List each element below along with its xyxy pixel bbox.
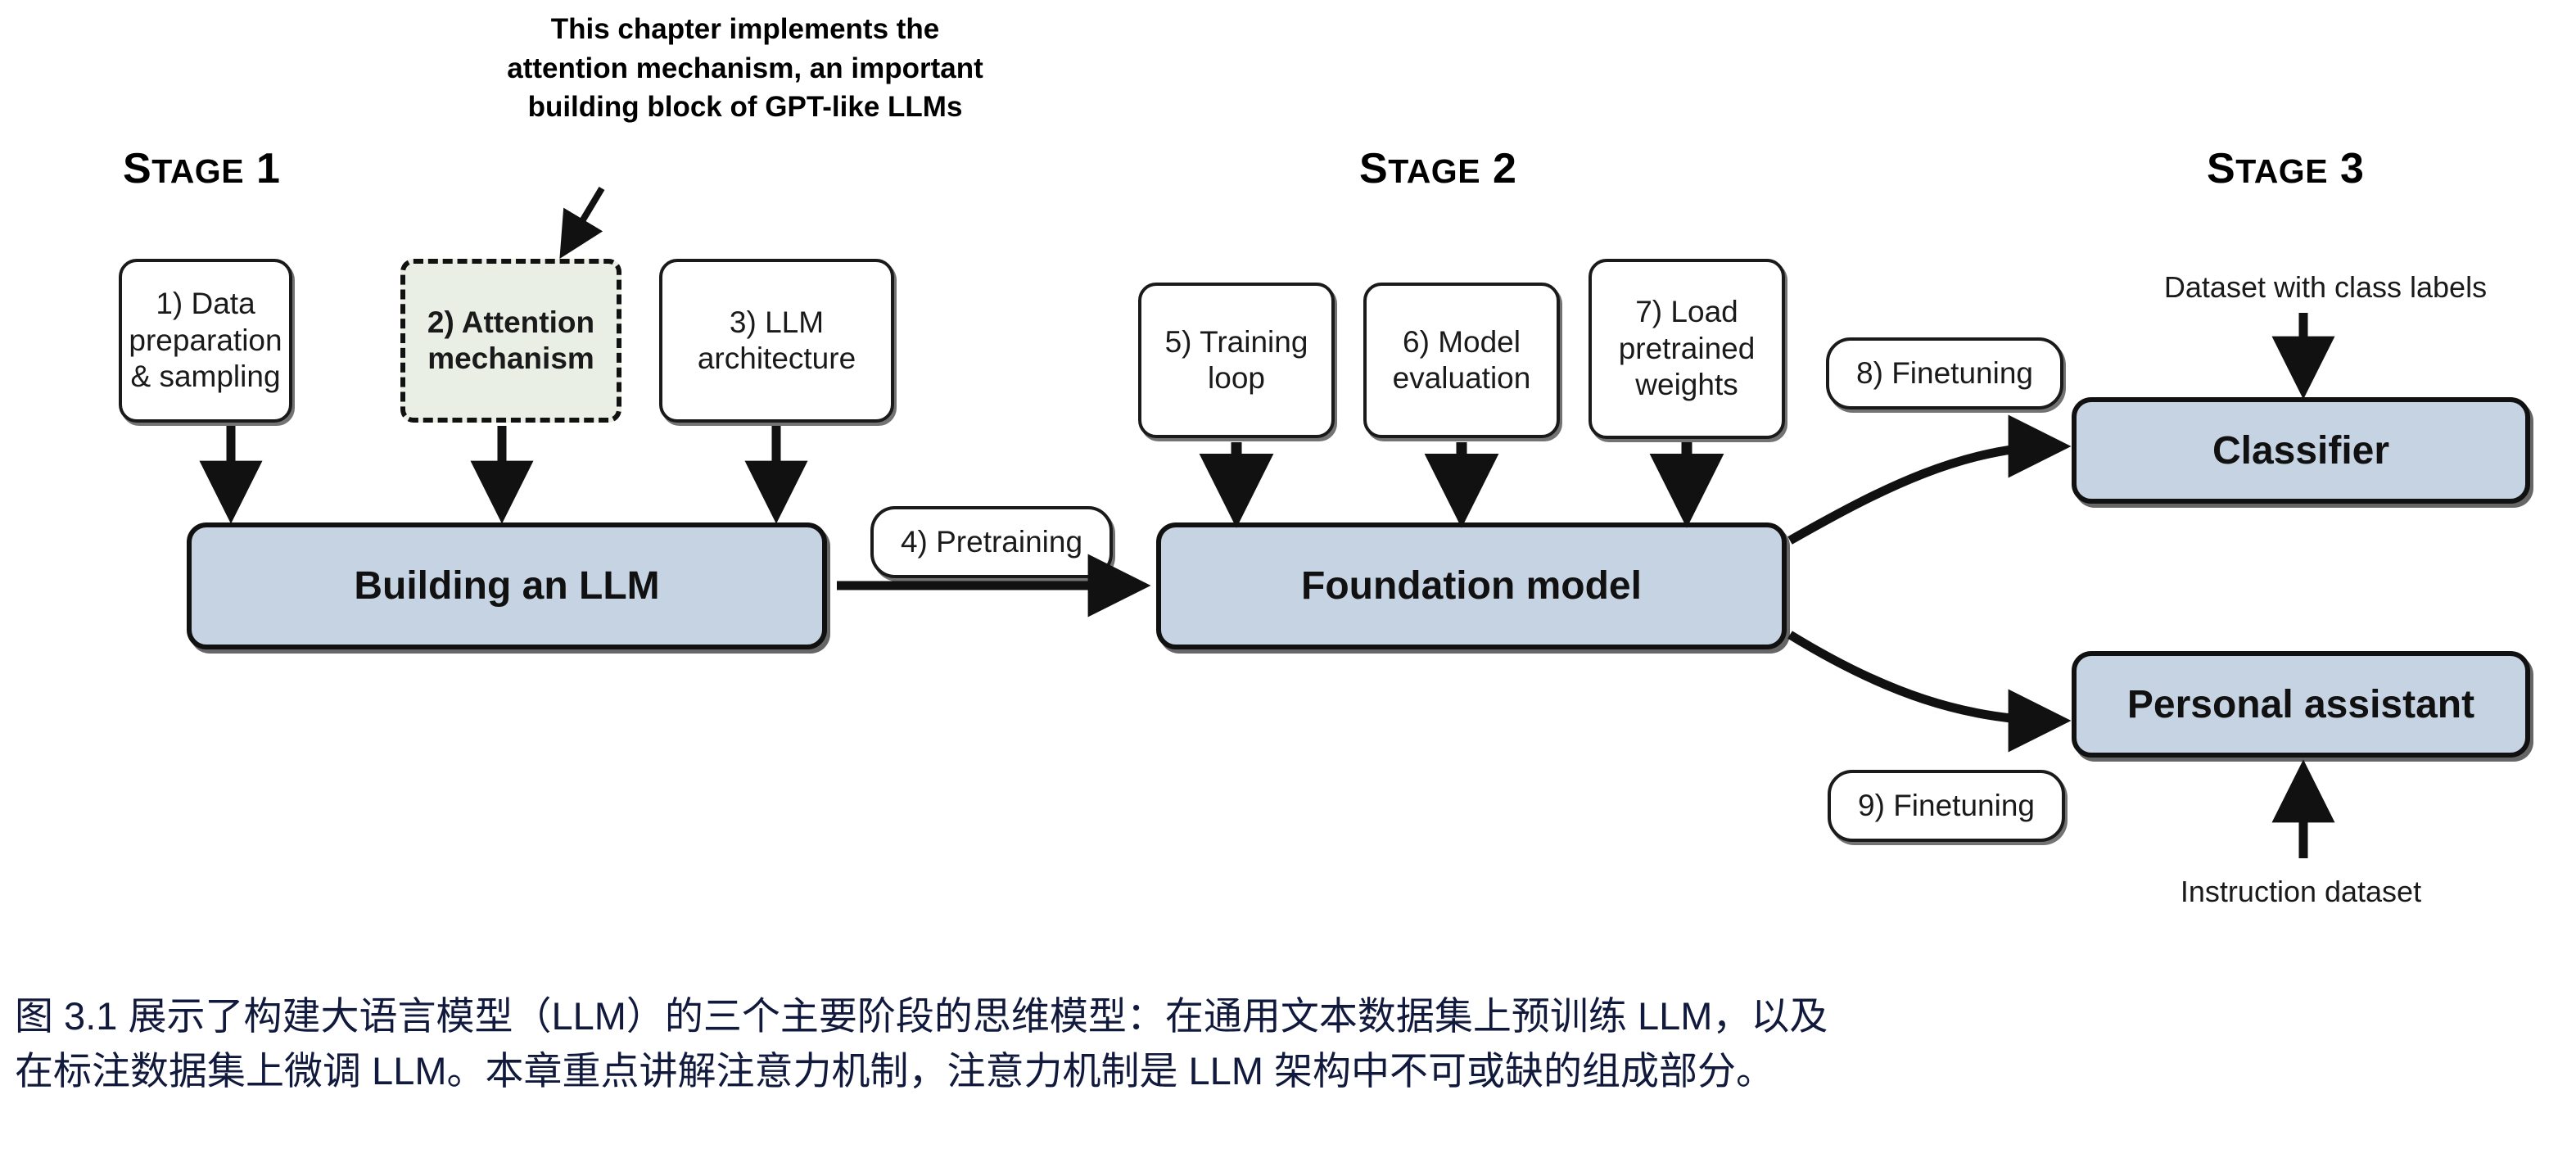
stage-2-number: 2 xyxy=(1493,145,1516,192)
step-2-line-1: 2) Attention xyxy=(427,305,594,341)
step-1-line-2: preparation xyxy=(129,323,282,359)
finetuning-8-label: 8) Finetuning xyxy=(1856,356,2033,391)
stage-1-prefix: S xyxy=(123,145,151,192)
stage-1-header: STAGE 1 xyxy=(123,147,280,190)
step-5-line-2: loop xyxy=(1165,360,1308,396)
foundation-model-box[interactable]: Foundation model xyxy=(1156,522,1787,649)
step-3-line-2: architecture xyxy=(698,341,856,377)
arrow-foundation-to-assistant xyxy=(1790,635,2057,721)
arrow-foundation-to-classifier xyxy=(1790,446,2057,541)
building-an-llm-label: Building an LLM xyxy=(354,563,659,608)
step-box-llm-architecture[interactable]: 3) LLM architecture xyxy=(659,259,894,423)
finetuning-9-label-box[interactable]: 9) Finetuning xyxy=(1828,770,2065,842)
pretraining-label: 4) Pretraining xyxy=(901,525,1082,559)
foundation-model-label: Foundation model xyxy=(1301,563,1642,608)
chapter-annotation: This chapter implements the attention me… xyxy=(442,10,1048,127)
step-1-line-1: 1) Data xyxy=(129,286,282,322)
step-2-line-2: mechanism xyxy=(427,341,594,377)
pretraining-label-box[interactable]: 4) Pretraining xyxy=(870,506,1113,578)
step-7-line-1: 7) Load xyxy=(1619,294,1756,330)
stage-2-prefix: S xyxy=(1359,145,1388,192)
figure-caption: 图 3.1 展示了构建大语言模型（LLM）的三个主要阶段的思维模型：在通用文本数… xyxy=(15,989,2569,1098)
annotation-line-3: building block of GPT-like LLMs xyxy=(442,88,1048,127)
annotation-pointer-arrow xyxy=(565,188,602,250)
finetuning-8-label-box[interactable]: 8) Finetuning xyxy=(1826,337,2063,409)
step-6-line-1: 6) Model xyxy=(1393,324,1531,360)
annotation-line-2: attention mechanism, an important xyxy=(442,49,1048,88)
instruction-dataset-label: Instruction dataset xyxy=(2096,875,2506,909)
caption-line-1: 图 3.1 展示了构建大语言模型（LLM）的三个主要阶段的思维模型：在通用文本数… xyxy=(15,989,2569,1044)
stage-2-rest: TAGE xyxy=(1388,152,1480,190)
classifier-box[interactable]: Classifier xyxy=(2072,397,2530,504)
finetuning-9-label: 9) Finetuning xyxy=(1858,789,2035,823)
step-5-line-1: 5) Training xyxy=(1165,324,1308,360)
step-6-line-2: evaluation xyxy=(1393,360,1531,396)
step-3-line-1: 3) LLM xyxy=(698,305,856,341)
figure-diagram: This chapter implements the attention me… xyxy=(0,0,2576,966)
classifier-label: Classifier xyxy=(2212,428,2389,473)
step-7-line-2: pretrained xyxy=(1619,331,1756,367)
stage-1-rest: TAGE xyxy=(151,152,244,190)
stage-3-header: STAGE 3 xyxy=(2207,147,2364,190)
stage-3-prefix: S xyxy=(2207,145,2235,192)
annotation-line-1: This chapter implements the xyxy=(442,10,1048,49)
step-7-line-3: weights xyxy=(1619,367,1756,403)
stage-2-header: STAGE 2 xyxy=(1359,147,1516,190)
step-box-model-evaluation[interactable]: 6) Model evaluation xyxy=(1363,283,1560,438)
caption-line-2: 在标注数据集上微调 LLM。本章重点讲解注意力机制，注意力机制是 LLM 架构中… xyxy=(15,1044,2569,1099)
dataset-class-labels-label: Dataset with class labels xyxy=(2096,270,2555,305)
personal-assistant-box[interactable]: Personal assistant xyxy=(2072,651,2530,758)
step-1-line-3: & sampling xyxy=(129,359,282,395)
building-an-llm-box[interactable]: Building an LLM xyxy=(187,522,827,649)
step-box-data-preparation[interactable]: 1) Data preparation & sampling xyxy=(119,259,292,423)
stage-3-rest: TAGE xyxy=(2235,152,2328,190)
step-box-load-pretrained-weights[interactable]: 7) Load pretrained weights xyxy=(1589,259,1785,439)
personal-assistant-label: Personal assistant xyxy=(2127,682,2474,727)
step-box-attention-mechanism[interactable]: 2) Attention mechanism xyxy=(400,259,621,423)
step-box-training-loop[interactable]: 5) Training loop xyxy=(1138,283,1335,438)
stage-3-number: 3 xyxy=(2340,145,2364,192)
stage-1-number: 1 xyxy=(256,145,280,192)
